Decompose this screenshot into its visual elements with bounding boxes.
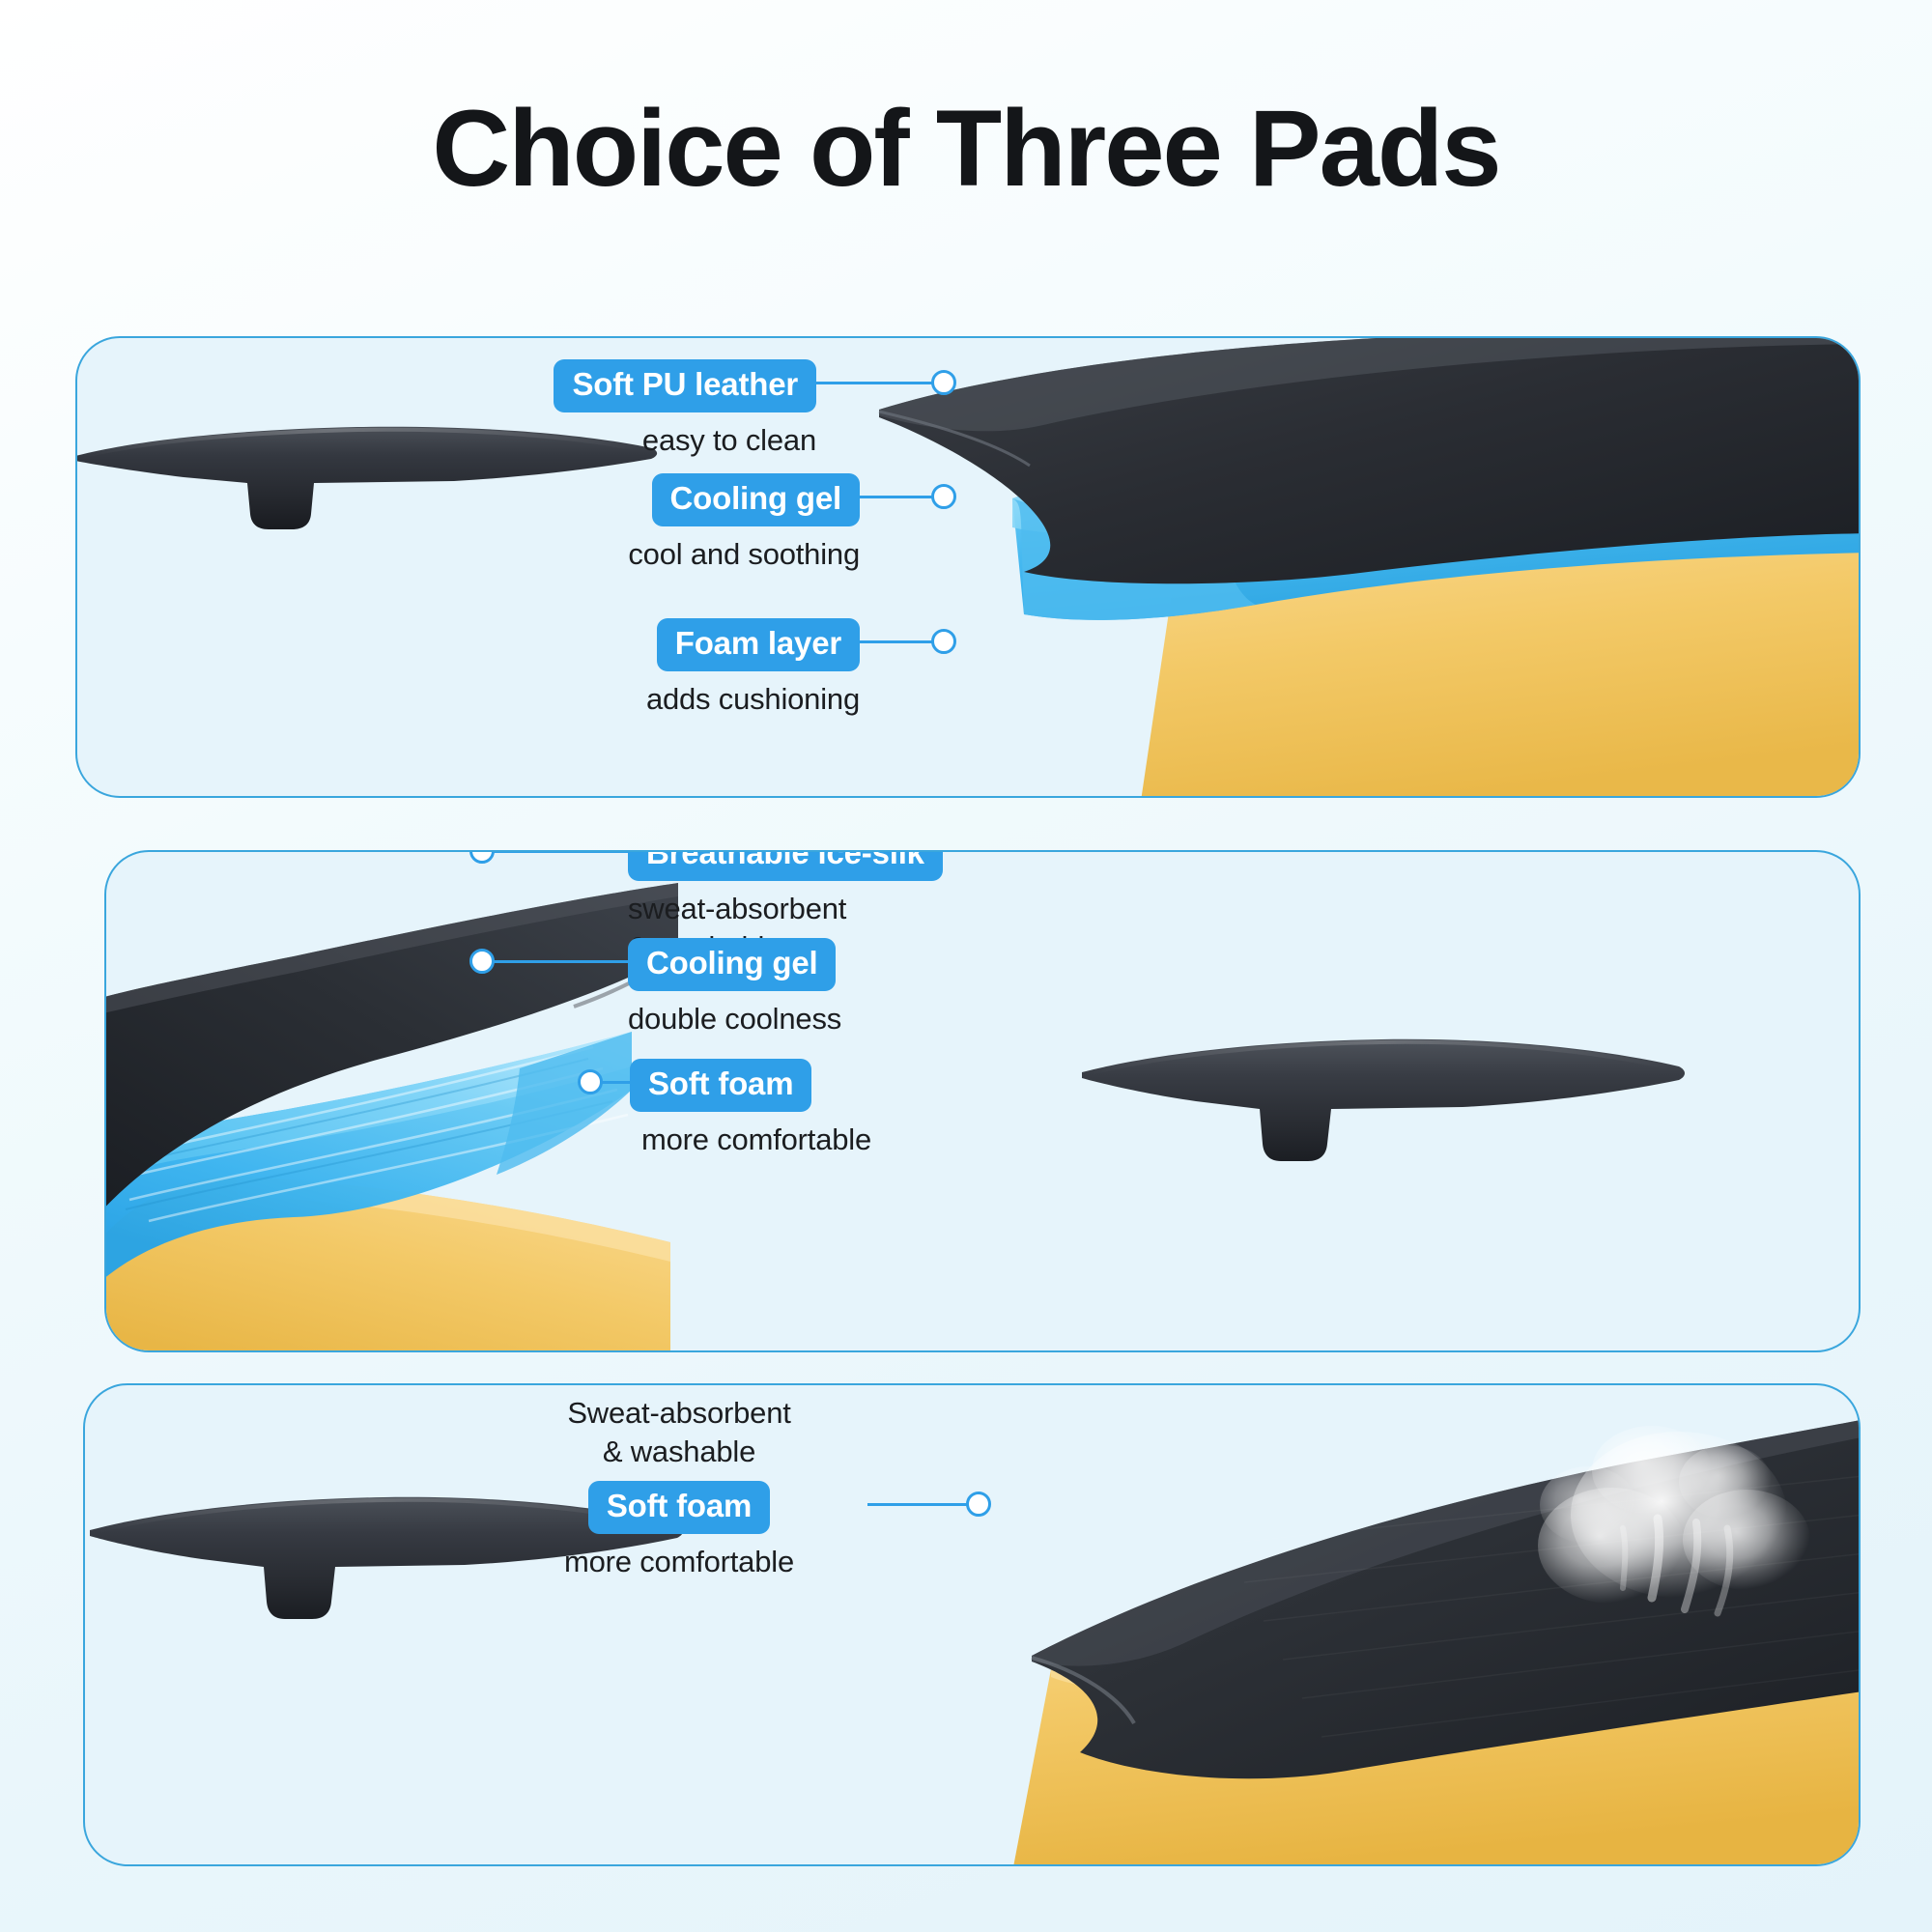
page-title: Choice of Three Pads	[0, 91, 1932, 208]
label-desc-foam-layer: adds cushioning	[444, 680, 860, 719]
panel-ice-silk-foam: Breathable ice-silk Sweat-absorbent & wa…	[83, 1383, 1861, 1866]
label-soft-foam-3: Soft foam more comfortable	[491, 1481, 867, 1581]
pad-photo-ice-silk-gel	[1072, 1026, 1690, 1185]
layer-cutaway-ice-silk-foam	[935, 1383, 1861, 1866]
layer-cutaway-pu-leather	[850, 336, 1861, 798]
leader-line-soft-pu-leather	[811, 382, 942, 384]
leader-dot-foam-layer	[931, 629, 956, 654]
label-desc-cooling-gel: cool and soothing	[444, 535, 860, 574]
label-cooling-gel-2: Cooling gel double coolness	[628, 938, 1034, 1038]
leader-dot-cooling-gel	[931, 484, 956, 509]
leader-line-cooling-gel-2	[493, 960, 628, 963]
label-title-breathable-ice-silk: Breathable ice-silk	[628, 850, 943, 881]
leader-line-cooling-gel	[855, 496, 942, 498]
label-soft-pu-leather: Soft PU leather easy to clean	[444, 359, 816, 460]
label-title-cooling-gel-2: Cooling gel	[628, 938, 836, 991]
label-title-breathable-ice-silk-3: Breathable ice-silk	[522, 1383, 837, 1385]
label-desc-soft-pu-leather: easy to clean	[444, 421, 816, 460]
infographic-root: Choice of Three Pads	[0, 0, 1932, 1932]
label-desc-breathable-ice-silk-3: Sweat-absorbent & washable	[491, 1394, 867, 1472]
leader-dot-soft-foam-3	[966, 1492, 991, 1517]
panel-pu-leather-gel-foam: Soft PU leather easy to clean Cooling ge…	[75, 336, 1861, 798]
label-foam-layer: Foam layer adds cushioning	[444, 618, 860, 719]
leader-dot-soft-foam-2	[578, 1069, 603, 1094]
leader-dot-cooling-gel-2	[469, 949, 495, 974]
label-breathable-ice-silk-3: Breathable ice-silk Sweat-absorbent & wa…	[491, 1383, 867, 1472]
label-desc-soft-foam-3: more comfortable	[491, 1543, 867, 1581]
label-title-cooling-gel: Cooling gel	[652, 473, 860, 526]
label-soft-foam-2: Soft foam more comfortable	[630, 1059, 1036, 1159]
leader-line-foam-layer	[855, 640, 942, 643]
label-title-soft-pu-leather: Soft PU leather	[554, 359, 816, 412]
leader-line-breathable-ice-silk	[493, 850, 628, 853]
panel-ice-silk-gel-foam: Breathable ice-silk sweat-absorbent & wa…	[104, 850, 1861, 1352]
label-title-soft-foam-2: Soft foam	[630, 1059, 811, 1112]
leader-dot-soft-pu-leather	[931, 370, 956, 395]
label-desc-cooling-gel-2: double coolness	[628, 1000, 1034, 1038]
label-desc-soft-foam-2: more comfortable	[641, 1121, 1036, 1159]
label-title-foam-layer: Foam layer	[657, 618, 860, 671]
label-title-soft-foam-3: Soft foam	[588, 1481, 770, 1534]
label-cooling-gel: Cooling gel cool and soothing	[444, 473, 860, 574]
leader-line-soft-foam-3	[867, 1503, 979, 1506]
